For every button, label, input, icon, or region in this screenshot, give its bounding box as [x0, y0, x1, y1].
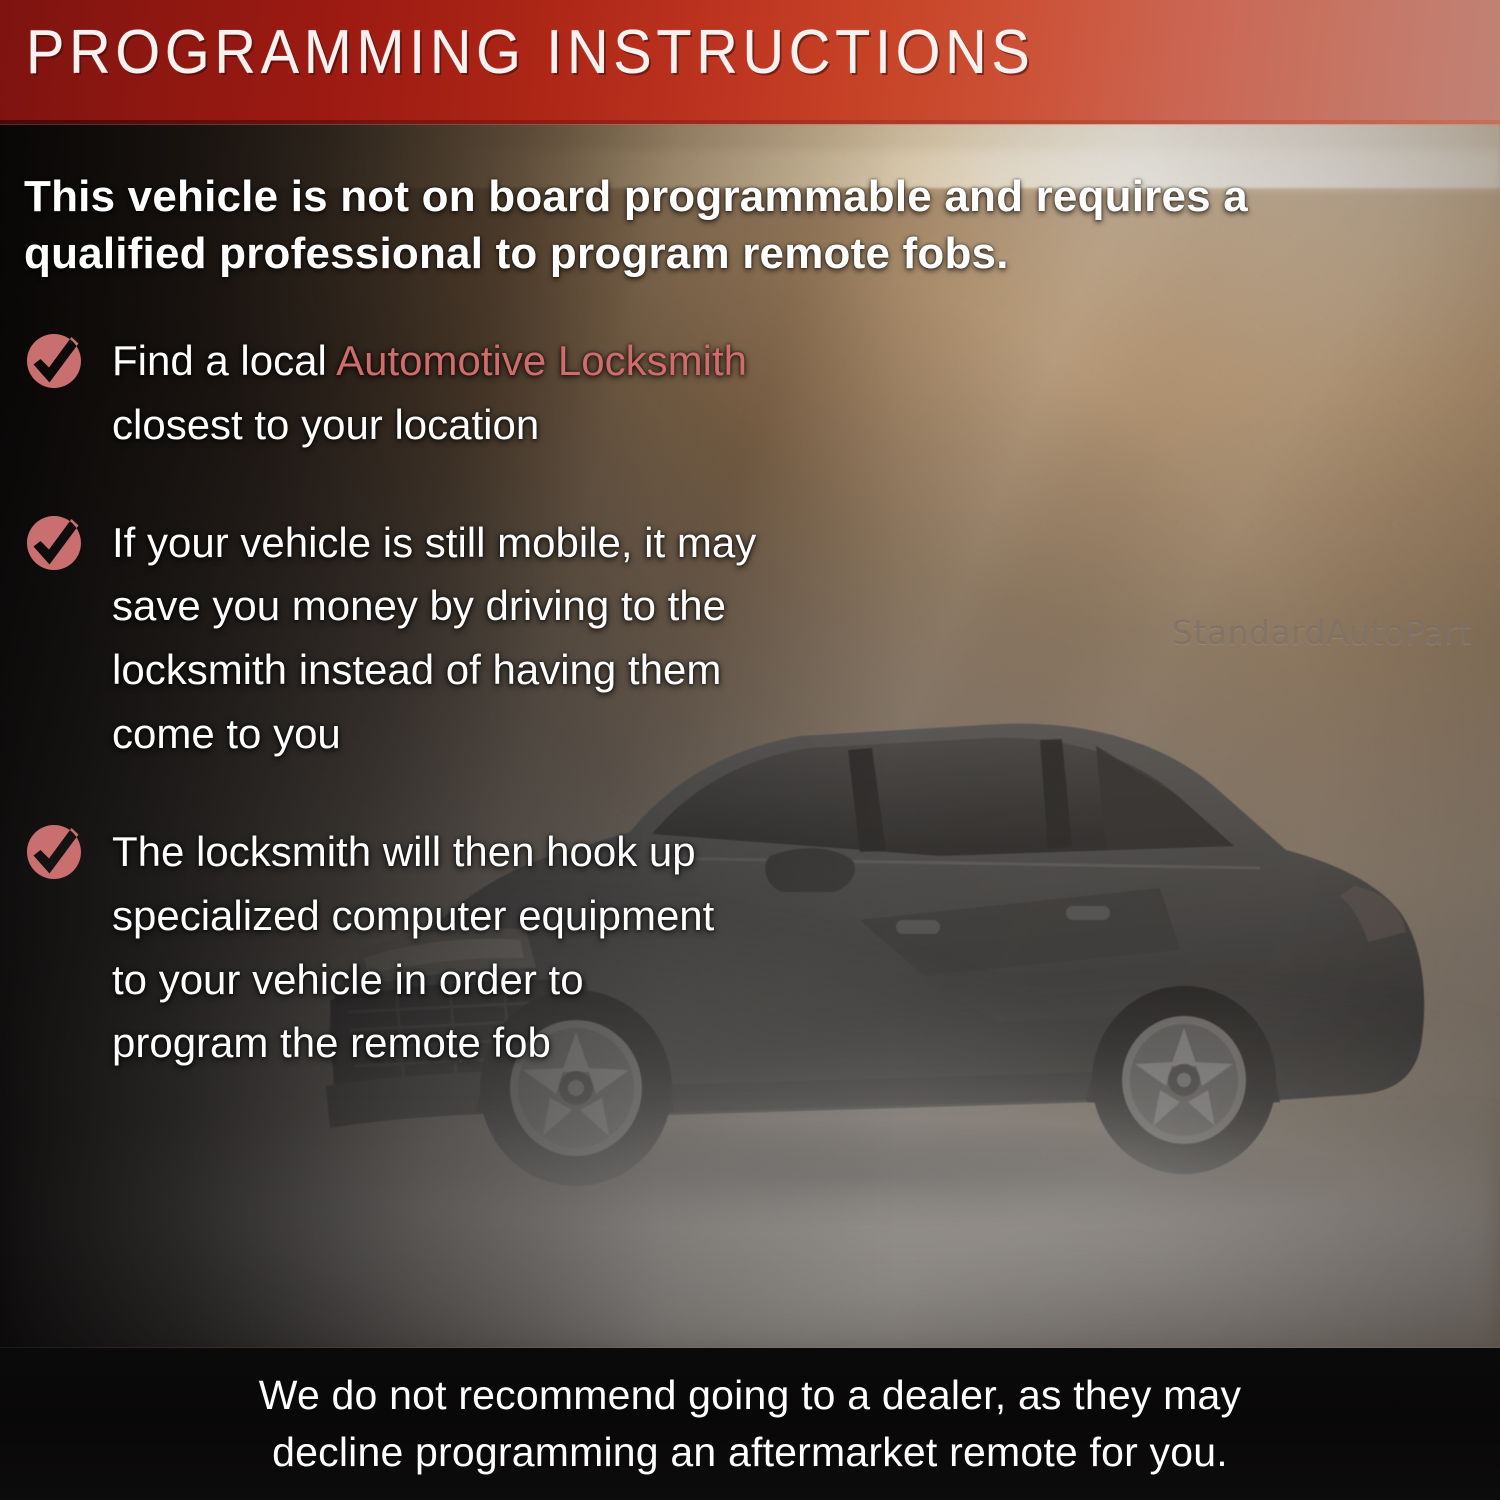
page-title: PROGRAMMING INSTRUCTIONS — [26, 17, 1035, 88]
footer-disclaimer: We do not recommend going to a dealer, a… — [259, 1367, 1241, 1480]
list-item: If your vehicle is still mobile, it may … — [24, 511, 844, 766]
list-item-text: If your vehicle is still mobile, it may … — [112, 511, 844, 766]
list-item-text: Find a local Automotive Locksmith closes… — [112, 329, 844, 457]
header-bar: PROGRAMMING INSTRUCTIONS — [0, 0, 1500, 124]
instruction-list: Find a local Automotive Locksmith closes… — [24, 329, 844, 1075]
list-item: Find a local Automotive Locksmith closes… — [24, 329, 844, 457]
list-item-text: The locksmith will then hook up speciali… — [112, 820, 844, 1075]
programming-instructions-infographic: PROGRAMMING INSTRUCTIONS This vehicle is… — [0, 0, 1500, 1500]
check-badge-icon — [26, 515, 82, 571]
check-badge-icon — [26, 333, 82, 389]
list-item-lead: Find a local — [112, 337, 336, 384]
list-item-tail: closest to your location — [112, 401, 539, 448]
list-item-tail: The locksmith will then hook up speciali… — [112, 828, 714, 1066]
list-item: The locksmith will then hook up speciali… — [24, 820, 844, 1075]
footer-bar: We do not recommend going to a dealer, a… — [0, 1348, 1500, 1500]
check-badge-icon — [26, 824, 82, 880]
list-item-tail: If your vehicle is still mobile, it may … — [112, 519, 756, 757]
brand-watermark: StandardAutoPart — [1172, 613, 1472, 652]
highlighted-term: Automotive Locksmith — [336, 337, 747, 384]
lede-statement: This vehicle is not on board programmabl… — [24, 168, 1364, 282]
